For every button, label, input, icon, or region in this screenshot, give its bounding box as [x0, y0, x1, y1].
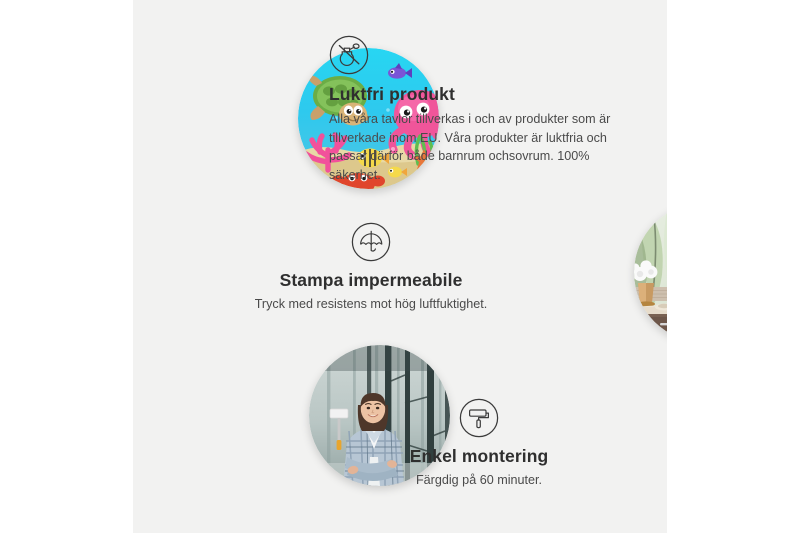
feature-block-1: Luktfri produkt Alla våra tavlor tillver…	[329, 35, 629, 185]
feature-image-bathroom	[634, 203, 667, 342]
content-panel: Luktfri produkt Alla våra tavlor tillver…	[133, 0, 667, 533]
feature-body: Alla våra tavlor tillverkas i och av pro…	[329, 110, 616, 185]
no-fragrance-spray-bottle-icon	[329, 35, 369, 75]
feature-body: Tryck med resistens mot hög luftfuktighe…	[223, 295, 519, 314]
feature-block-2: Stampa impermeabile Tryck med resistens …	[223, 222, 519, 314]
feature-title: Luktfri produkt	[329, 84, 629, 105]
feature-title: Stampa impermeabile	[223, 270, 519, 291]
feature-block-3: Enkel montering Färgdig på 60 minuter.	[329, 398, 629, 490]
umbrella-icon	[351, 222, 391, 262]
promo-infographic: Luktfri produkt Alla våra tavlor tillver…	[0, 0, 800, 533]
feature-title: Enkel montering	[329, 446, 629, 467]
feature-body: Färgdig på 60 minuter.	[329, 471, 629, 490]
paint-roller-icon	[459, 398, 499, 438]
